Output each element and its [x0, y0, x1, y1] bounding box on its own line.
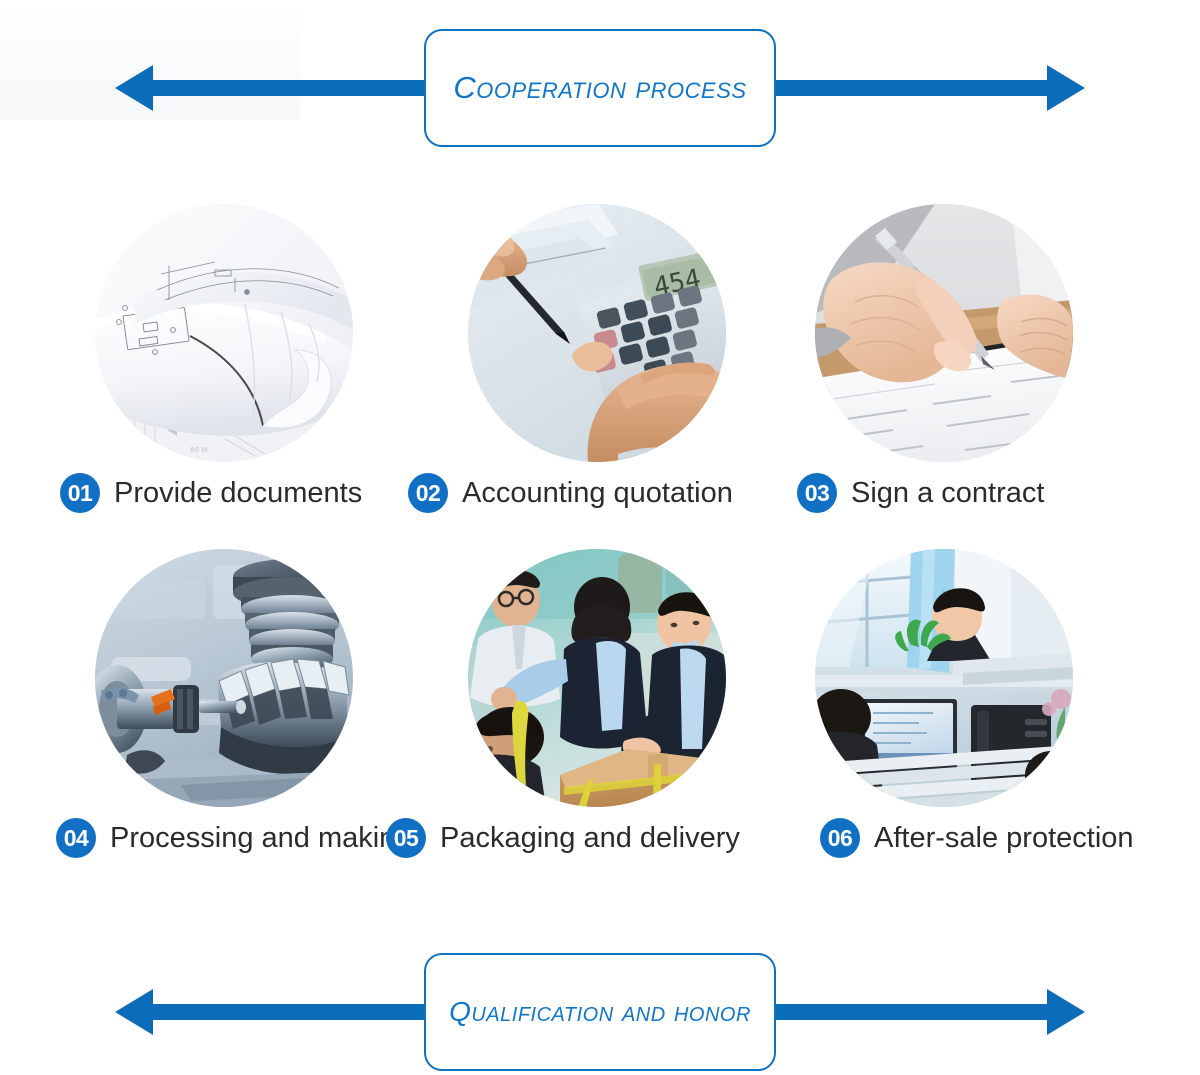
- step-02-image-circle: 454: [468, 204, 726, 462]
- arrow-left-icon: [115, 989, 153, 1035]
- step-01-caption: 01 Provide documents: [60, 468, 400, 518]
- step-06-caption: 06 After-sale protection: [820, 813, 1160, 863]
- step-01-label: Provide documents: [114, 477, 362, 510]
- step-03-image-circle: [815, 204, 1073, 462]
- step-05-number-badge: 05: [386, 818, 426, 858]
- calculator-hands-photo: 454: [468, 204, 726, 462]
- step-03[interactable]: 03 Sign a contract: [755, 196, 1155, 546]
- arrow-right-icon: [1047, 65, 1085, 111]
- arrow-right-icon: [1047, 989, 1085, 1035]
- qualification-and-honor-banner: Qualification and honor: [0, 952, 1200, 1072]
- rolled-blueprints-photo: 60 W b1: [95, 204, 353, 462]
- step-02-label: Accounting quotation: [462, 477, 733, 510]
- arrow-right-shaft: [769, 1004, 1049, 1020]
- arrow-left-shaft: [151, 80, 431, 96]
- step-04-caption: 04 Processing and making: [56, 813, 416, 863]
- cooperation-process-title: Cooperation process: [453, 70, 746, 106]
- step-03-label: Sign a contract: [851, 477, 1044, 510]
- banner-box-top: Cooperation process: [424, 29, 776, 147]
- step-01-image-circle: 60 W b1: [95, 204, 353, 462]
- step-03-number-badge: 03: [797, 473, 837, 513]
- step-05-caption: 05 Packaging and delivery: [386, 813, 766, 863]
- process-steps-grid: 60 W b1: [0, 196, 1200, 896]
- step-01[interactable]: 60 W b1: [0, 196, 400, 546]
- step-04-label: Processing and making: [110, 822, 411, 855]
- step-05[interactable]: 05 Packaging and delivery: [380, 541, 780, 891]
- signing-contract-photo: [815, 204, 1073, 462]
- arrow-left-shaft: [151, 1004, 431, 1020]
- arrow-right-shaft: [769, 80, 1049, 96]
- step-01-number-badge: 01: [60, 473, 100, 513]
- step-05-image-circle: [468, 549, 726, 807]
- packaging-workers-photo: [468, 549, 726, 807]
- step-02-caption: 02 Accounting quotation: [408, 468, 768, 518]
- step-05-label: Packaging and delivery: [440, 822, 740, 855]
- step-06[interactable]: 06 After-sale protection: [755, 541, 1155, 891]
- qualification-and-honor-title: Qualification and honor: [449, 996, 751, 1028]
- step-06-image-circle: [815, 549, 1073, 807]
- arrow-left-icon: [115, 65, 153, 111]
- step-02-number-badge: 02: [408, 473, 448, 513]
- cooperation-process-banner: Cooperation process: [0, 28, 1200, 148]
- step-02[interactable]: 454: [380, 196, 780, 546]
- office-support-photo: [815, 549, 1073, 807]
- step-04-image-circle: [95, 549, 353, 807]
- step-06-number-badge: 06: [820, 818, 860, 858]
- step-06-label: After-sale protection: [874, 822, 1134, 855]
- step-04-number-badge: 04: [56, 818, 96, 858]
- step-04[interactable]: 04 Processing and making: [0, 541, 400, 891]
- step-03-caption: 03 Sign a contract: [797, 468, 1137, 518]
- banner-box-bottom: Qualification and honor: [424, 953, 776, 1071]
- cnc-machining-photo: [95, 549, 353, 807]
